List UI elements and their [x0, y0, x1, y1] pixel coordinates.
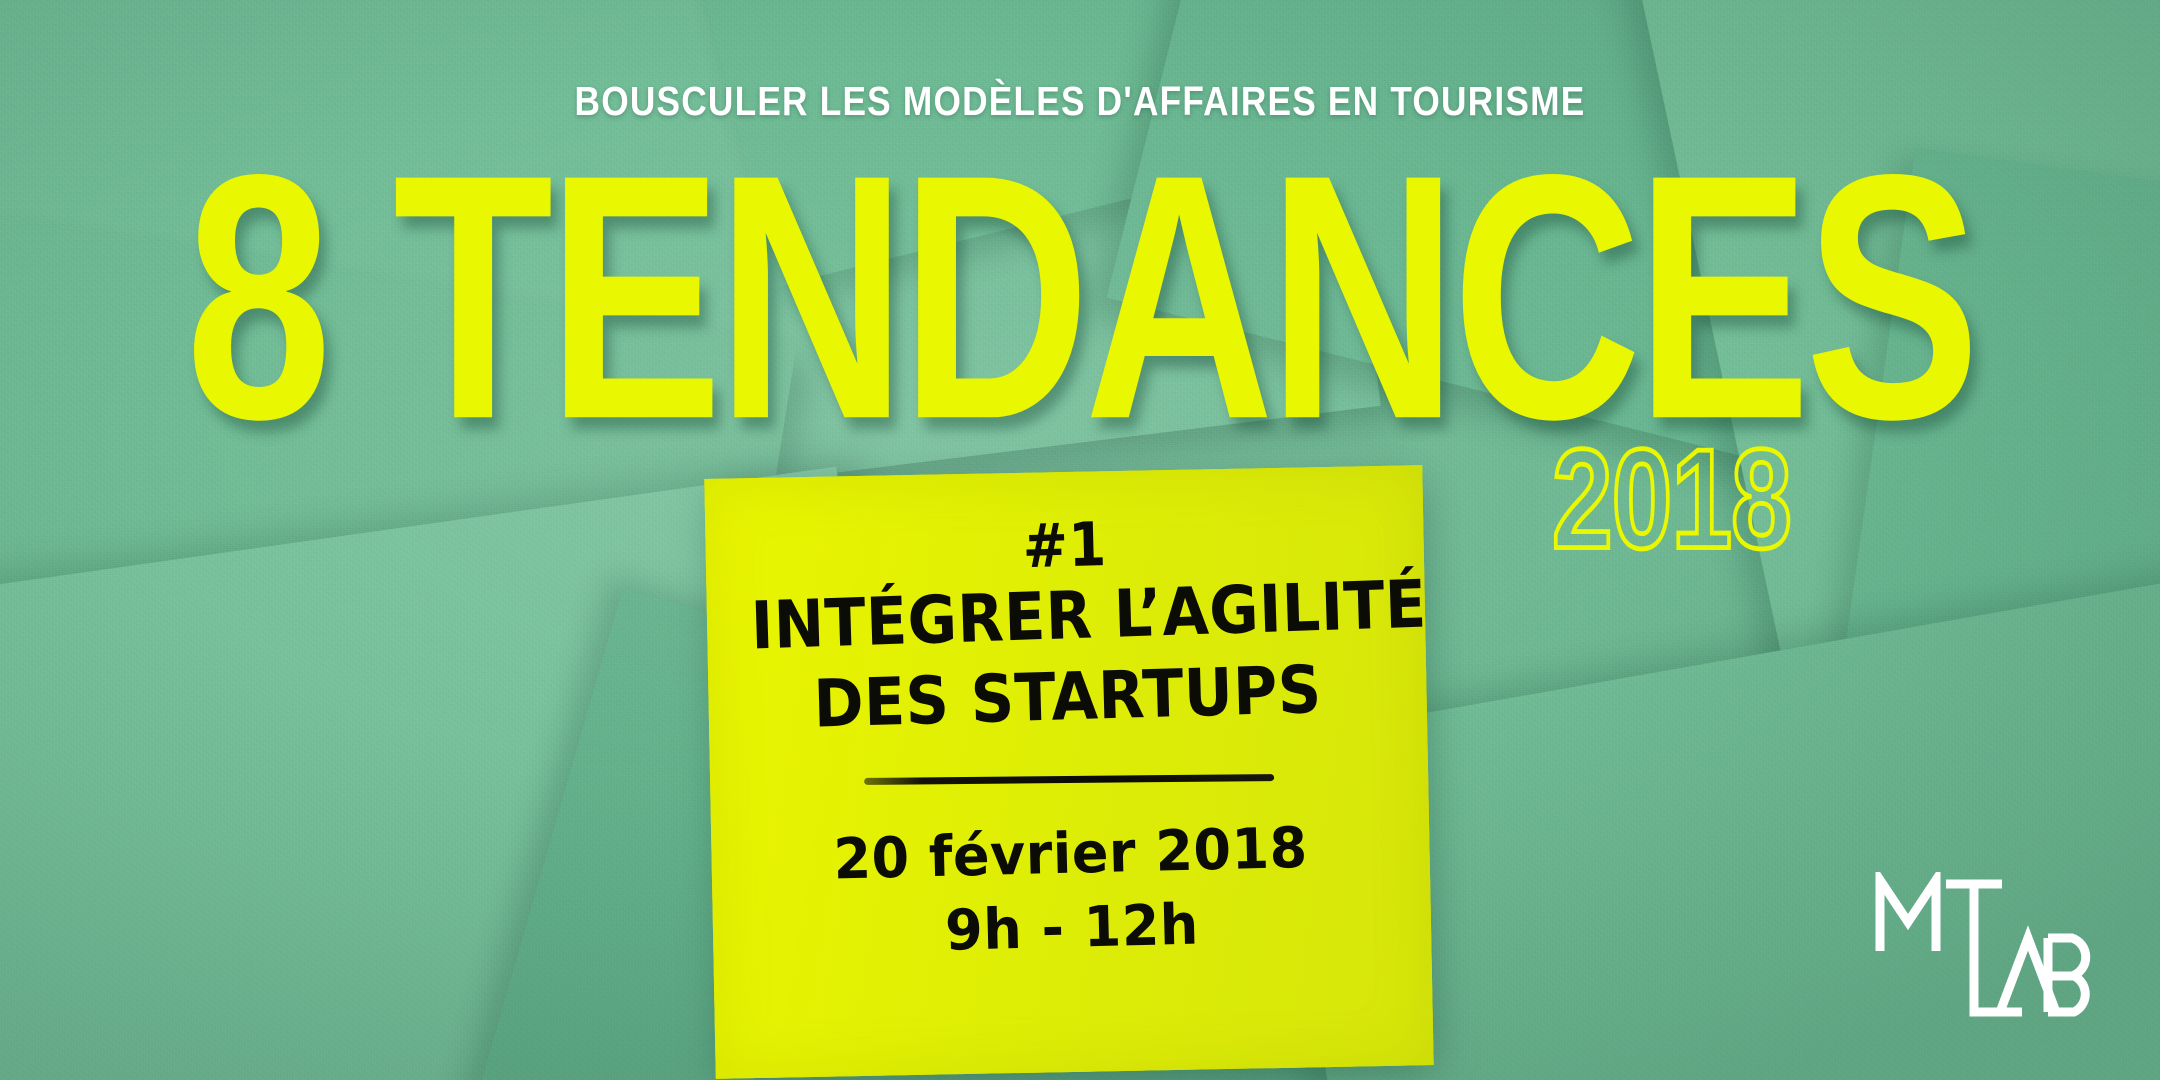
sticky-note: #1 INTÉGRER L’AGILITÉ DES STARTUPS 20 fé… — [704, 465, 1433, 1079]
note-event-time: 9h - 12h — [746, 888, 1397, 969]
note-headline-line-2: DES STARTUPS — [751, 651, 1383, 743]
logo-letter-m — [1880, 880, 1936, 951]
note-event-date: 20 février 2018 — [745, 813, 1396, 894]
note-divider-rule — [864, 774, 1274, 785]
mtlab-logo — [1872, 872, 2104, 1040]
sticky-note-surface: #1 INTÉGRER L’AGILITÉ DES STARTUPS 20 fé… — [704, 465, 1433, 1079]
year-badge: 2018 — [1552, 428, 1791, 570]
page-title: 8 TENDANCES — [22, 130, 2139, 464]
banner-canvas: BOUSCULER LES MODÈLES D'AFFAIRES EN TOUR… — [0, 0, 2160, 1080]
